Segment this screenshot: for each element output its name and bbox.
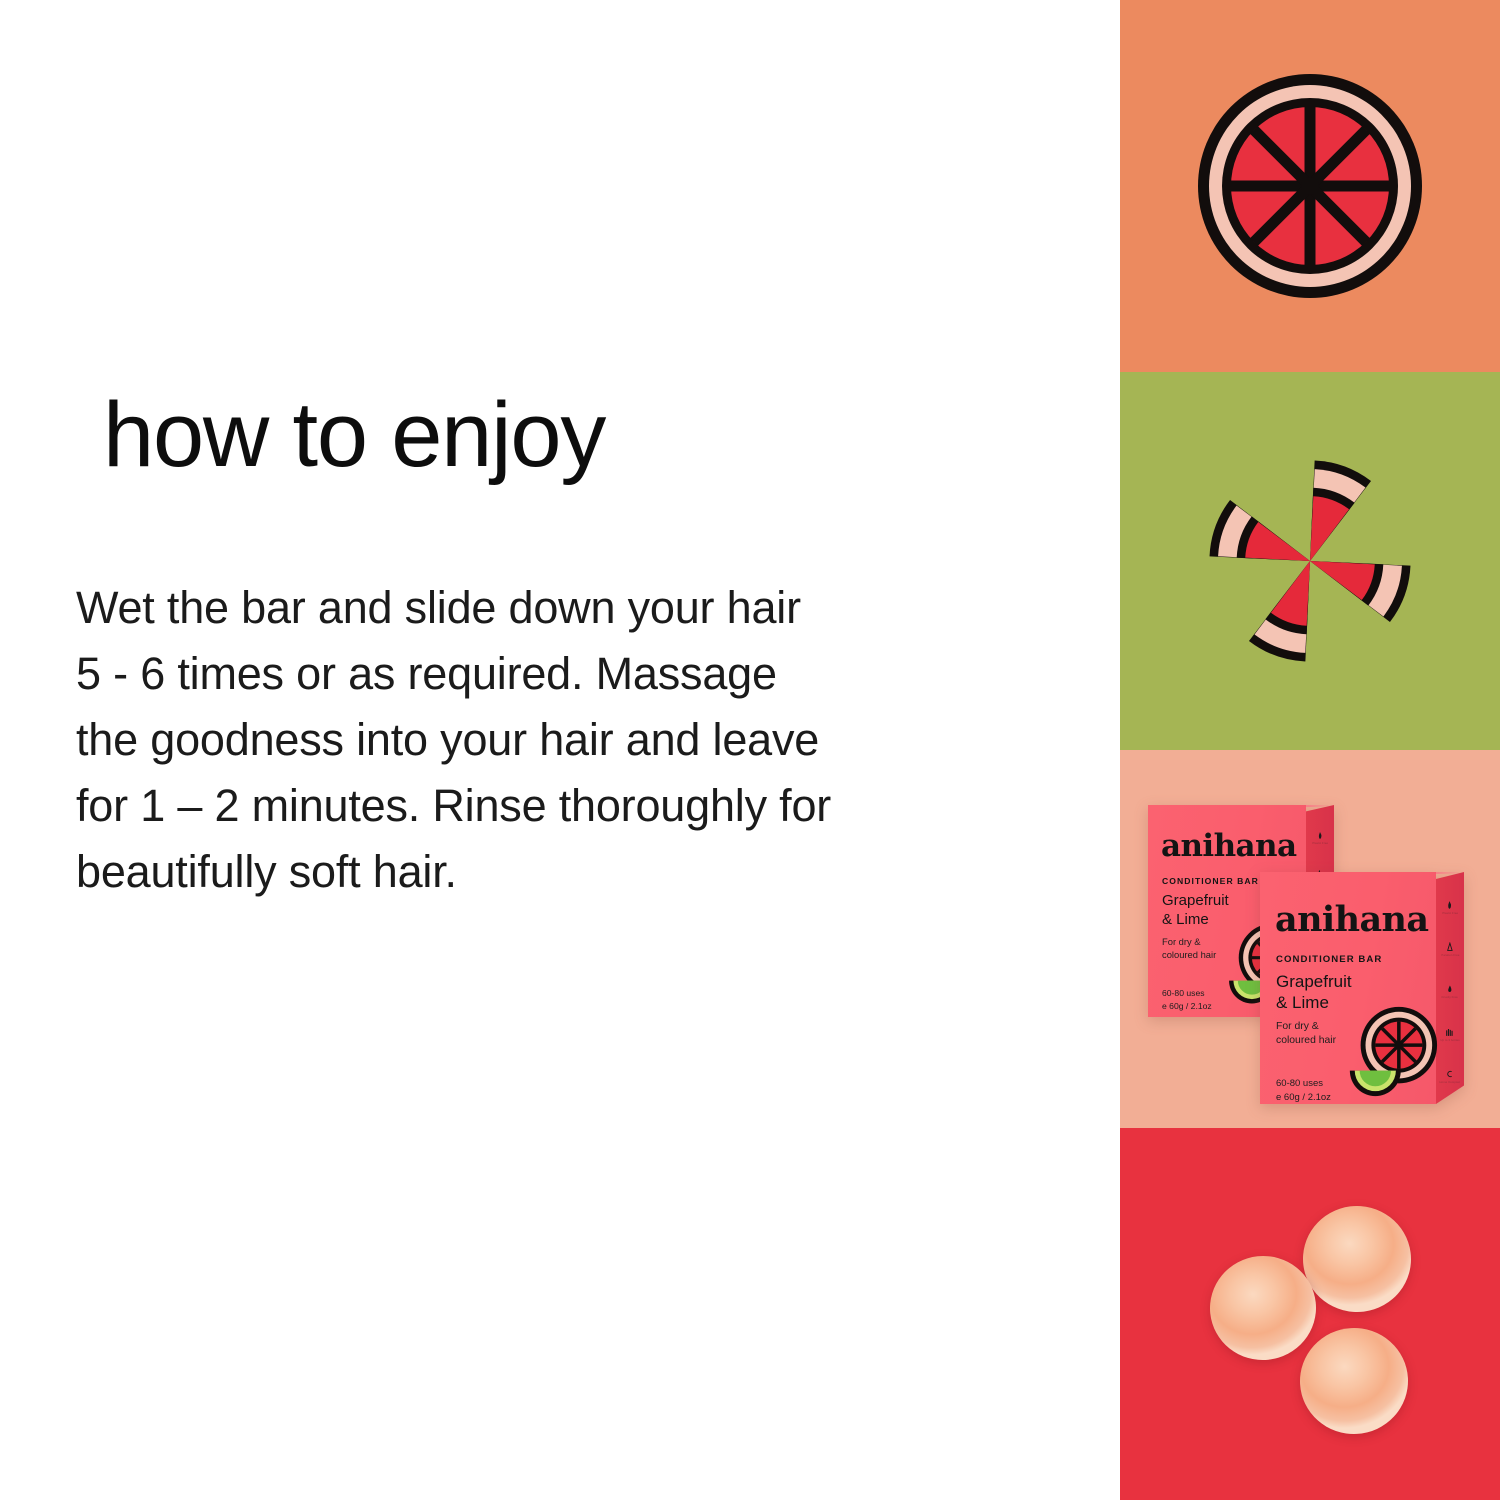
side-panel-icon-list: Plastic Free Paraben Free Cruelty Free: [1436, 886, 1464, 1098]
net-weight-label: e 60g / 2.1oz: [1276, 1092, 1331, 1103]
image-strip: Plastic Free Paraben Free Cruelty Free: [1120, 0, 1500, 1500]
brand-wordmark: anihana: [1275, 902, 1428, 937]
hair-type-line: For dry &: [1162, 936, 1201, 947]
bars-icon: Up to 3 bottles: [1440, 1027, 1460, 1042]
grapefruit-lime-artwork: [1342, 1000, 1440, 1102]
product-type-label: CONDITIONER BAR: [1276, 954, 1382, 966]
conditioner-bars: [1120, 1128, 1500, 1500]
instruction-line: beautifully soft hair.: [76, 839, 1006, 905]
variant-label: Grapefruit & Lime: [1276, 971, 1352, 1013]
box-side-panel: Plastic Free Paraben Free Cruelty Free: [1436, 872, 1464, 1104]
hair-type-line: For dry &: [1276, 1021, 1319, 1032]
pack-meta: 60-80 uses e 60g / 2.1oz: [1276, 1077, 1331, 1105]
page-title: how to enjoy: [103, 389, 605, 481]
instruction-line: Wet the bar and slide down your hair: [76, 575, 1006, 641]
conditioner-bars-panel: [1120, 1128, 1500, 1500]
variant-line: Grapefruit: [1276, 972, 1352, 991]
hair-type-label: For dry & coloured hair: [1276, 1020, 1336, 1048]
grapefruit-slice-icon: [1194, 70, 1426, 302]
product-box-pair: Plastic Free Paraben Free Cruelty Free: [1120, 750, 1500, 1128]
conditioner-bar: [1299, 1202, 1414, 1315]
instruction-line: for 1 – 2 minutes. Rinse thoroughly for: [76, 773, 1006, 839]
brand-wordmark: anihana: [1161, 831, 1296, 862]
uses-label: 60-80 uses: [1162, 988, 1205, 998]
net-weight-label: e 60g / 2.1oz: [1162, 1001, 1212, 1011]
hair-type-line: coloured hair: [1162, 949, 1216, 960]
leaf-icon: Paraben Free: [1441, 942, 1460, 957]
droplet-icon: Cruelty Free: [1441, 984, 1458, 999]
hair-type-label: For dry & coloured hair: [1162, 935, 1216, 961]
variant-label: Grapefruit & Lime: [1162, 891, 1229, 929]
instruction-line: the goodness into your hair and leave: [76, 707, 1006, 773]
bottle-icon: Plastic Free: [1312, 831, 1328, 845]
citrus-wedge-pinwheel-icon: [1190, 441, 1430, 681]
grapefruit-slice-panel: [1120, 0, 1500, 372]
uses-label: 60-80 uses: [1276, 1078, 1323, 1089]
instructions-paragraph: Wet the bar and slide down your hair 5 -…: [76, 575, 1006, 905]
variant-line: & Lime: [1276, 993, 1329, 1012]
conditioner-bar: [1297, 1325, 1410, 1437]
product-marketing-image: how to enjoy Wet the bar and slide down …: [0, 0, 1500, 1500]
pack-meta: 60-80 uses e 60g / 2.1oz: [1162, 987, 1212, 1013]
product-packaging-panel: Plastic Free Paraben Free Cruelty Free: [1120, 750, 1500, 1128]
instruction-line: 5 - 6 times or as required. Massage: [76, 641, 1006, 707]
recycle-icon: Home Compost: [1439, 1069, 1460, 1084]
product-type-label: CONDITIONER BAR: [1162, 876, 1259, 886]
variant-line: & Lime: [1162, 911, 1209, 928]
citrus-wedges-panel: [1120, 372, 1500, 750]
hair-type-line: coloured hair: [1276, 1035, 1336, 1046]
product-box-front: Plastic Free Paraben Free Cruelty Free: [1260, 872, 1460, 1104]
box-front-face: anihana CONDITIONER BAR Grapefruit & Lim…: [1260, 872, 1436, 1104]
copy-area: how to enjoy Wet the bar and slide down …: [0, 0, 1100, 1500]
variant-line: Grapefruit: [1162, 892, 1229, 909]
bottle-icon: Plastic Free: [1442, 900, 1458, 915]
